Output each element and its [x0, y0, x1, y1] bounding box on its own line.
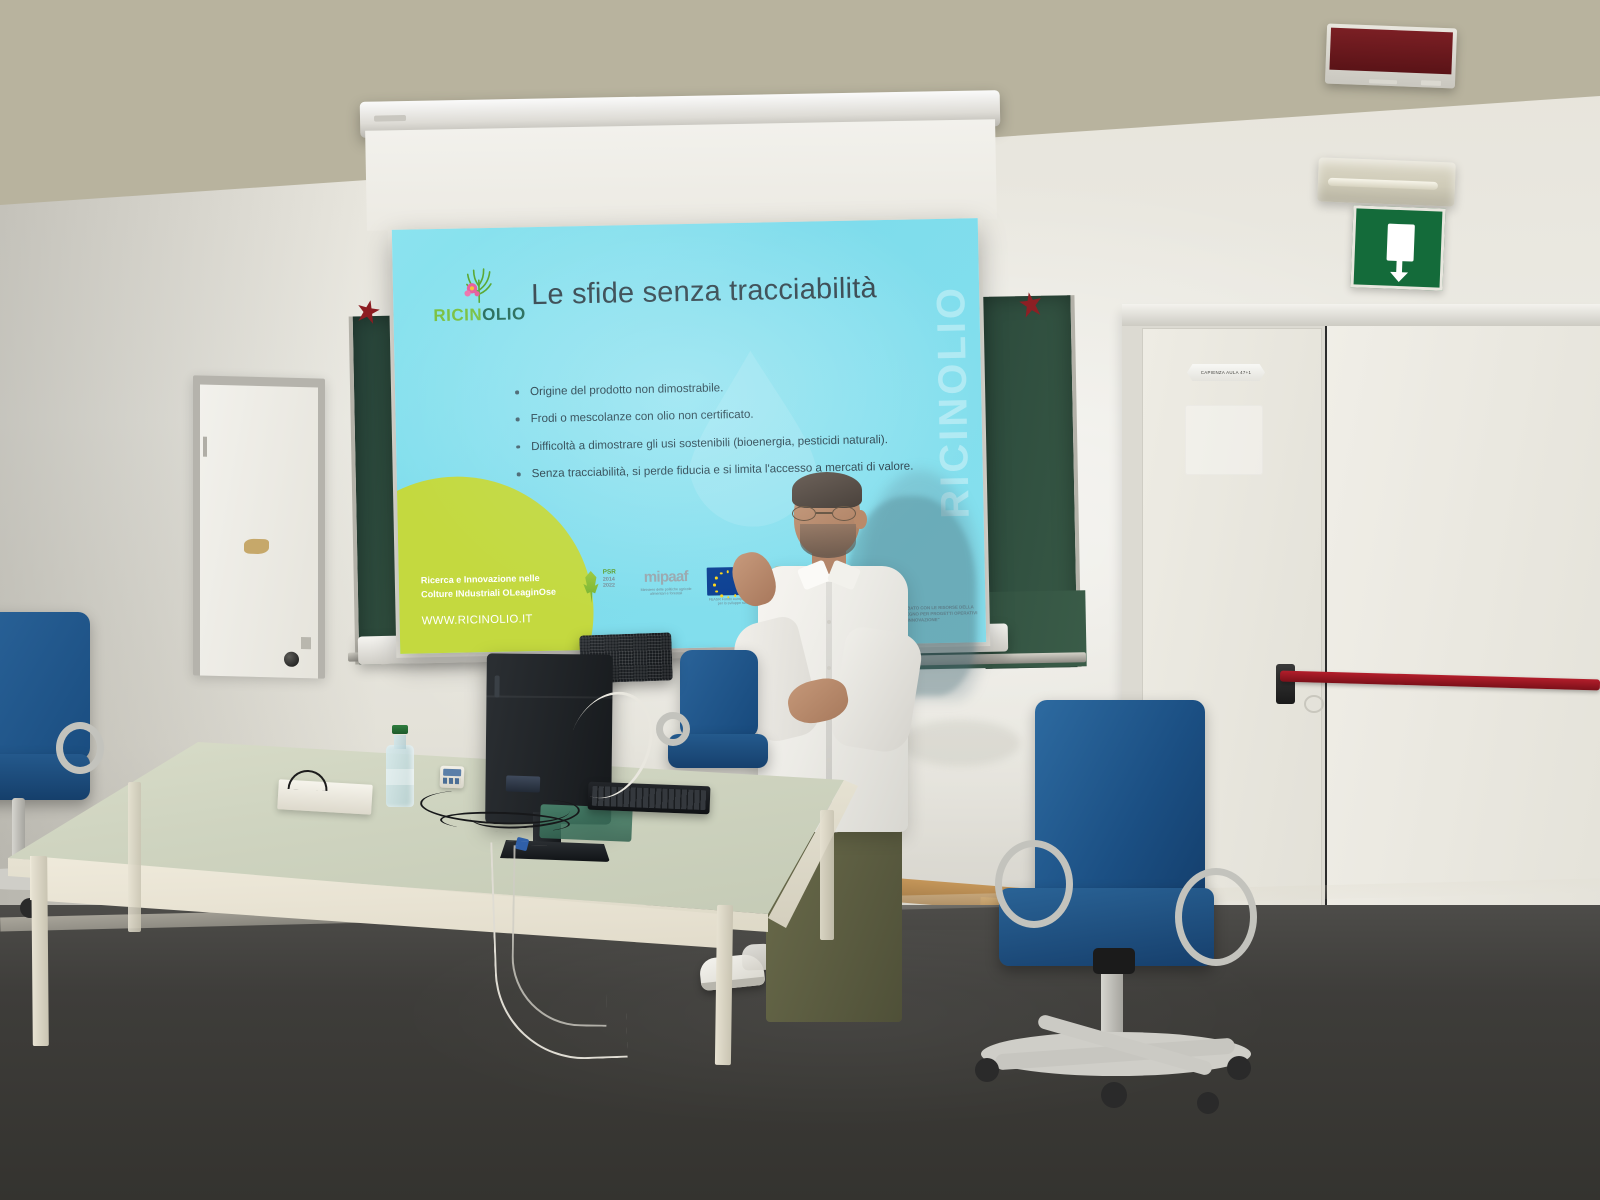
chair-caster [1197, 1092, 1219, 1114]
door-hinge [203, 437, 207, 457]
logo-text-first: RICIN [433, 305, 482, 325]
desk-leg [128, 782, 141, 932]
mipaaf-caption: Ministero delle politiche agricole alime… [639, 587, 693, 597]
psr-label: PSR [603, 568, 616, 575]
presenter-hair [792, 472, 862, 508]
red-alarm-sign [1325, 24, 1457, 89]
chair-height-mechanism [1093, 948, 1135, 974]
red-alarm-panel [1329, 28, 1453, 75]
slide-logo-wordmark: RICINOLIO [423, 304, 535, 326]
classroom-photo: CAPIENZA AULA 47+1 RICINOLIO [0, 0, 1600, 1200]
desk-leg [31, 856, 49, 1046]
chair-caster [1227, 1056, 1251, 1080]
office-chair[interactable] [975, 700, 1275, 1120]
mipaaf-wordmark: mipaaf [639, 568, 693, 586]
door-pull-ring[interactable] [1304, 695, 1324, 713]
list-item: Difficoltà a dimostrare gli usi sostenib… [514, 431, 966, 455]
slide-logo: RICINOLIO [423, 265, 536, 326]
door-residue-mark [1185, 405, 1263, 475]
bottle-cap [392, 725, 408, 734]
sign-clip [1421, 80, 1441, 86]
bottle-label [386, 769, 414, 785]
left-door-frame [193, 375, 325, 678]
desk-leg [820, 810, 834, 940]
logo-text-second: OLIO [482, 304, 526, 324]
projector-screen-drop [365, 119, 997, 231]
chair-caster [975, 1058, 999, 1082]
chair-armrest-right [1175, 868, 1257, 966]
exit-figure-icon [1387, 224, 1415, 262]
castor-plant-icon [449, 266, 510, 305]
door-scuff-mark [244, 539, 269, 555]
psr-leaf-icon [581, 571, 602, 603]
door-latch [301, 637, 311, 649]
left-door[interactable] [200, 385, 318, 679]
fluorescent-tube [1328, 178, 1438, 190]
emergency-exit-sign [1350, 205, 1445, 290]
water-bottle[interactable] [386, 725, 414, 807]
mipaaf-logo: mipaaf Ministero delle politiche agricol… [639, 568, 694, 597]
room-capacity-sign: CAPIENZA AULA 47+1 [1187, 364, 1265, 381]
psr-years: 2014 2022 [603, 576, 615, 589]
fire-door-header [1122, 304, 1600, 326]
chair-armrest-left [995, 840, 1073, 928]
desk-leg [715, 905, 733, 1065]
emergency-light-fixture [1317, 157, 1456, 206]
chair-caster [1101, 1082, 1127, 1108]
slide-footer-tagline: Ricerca e Innovazione nelle Colture INdu… [421, 570, 572, 601]
list-item: Frodi o mescolanze con olio non certific… [513, 404, 965, 428]
remote-control[interactable] [440, 766, 465, 789]
psr-logo: PSR 2014 2022 [581, 569, 626, 604]
sign-clip [1369, 79, 1397, 84]
usb-hub[interactable] [506, 775, 541, 792]
down-arrow-icon [1390, 260, 1409, 283]
presenter-beard [800, 524, 856, 558]
eyeglasses-icon [792, 506, 860, 521]
door-knob[interactable] [284, 652, 299, 667]
fire-door-right[interactable] [1325, 326, 1600, 1000]
